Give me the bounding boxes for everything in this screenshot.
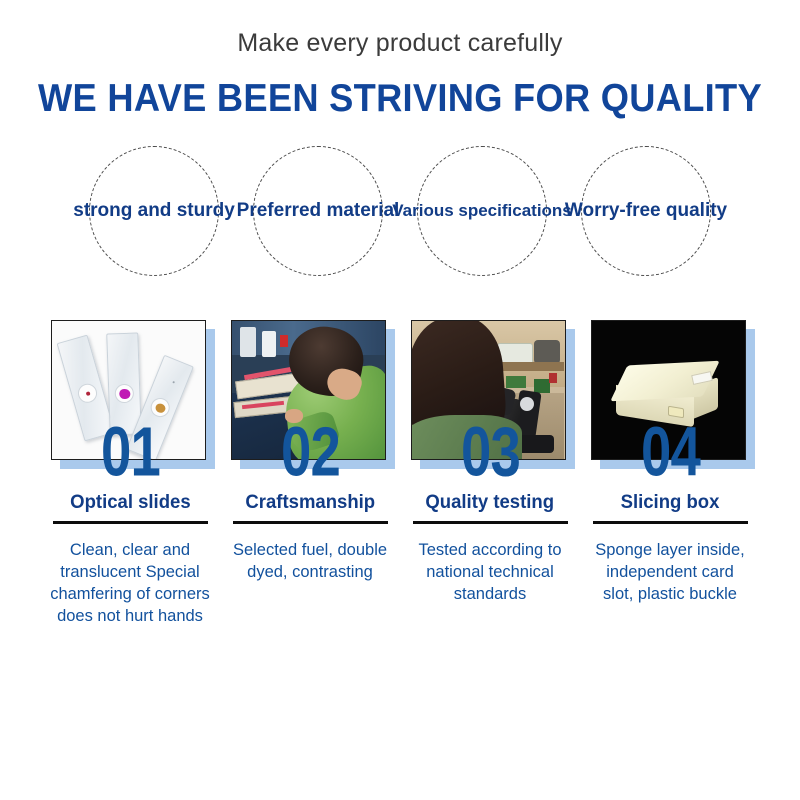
feature-badge-label: Various specifications bbox=[392, 201, 572, 221]
product-description: Clean, clear and translucent Special cha… bbox=[50, 540, 210, 628]
banner-headline: WE HAVE BEEN STRIVING FOR QUALITY bbox=[28, 79, 772, 118]
title-underline bbox=[53, 521, 208, 524]
specimen-mount bbox=[75, 382, 99, 406]
product-card-list: 01 Optical slides Clean, clear and trans… bbox=[0, 320, 800, 628]
promo-banner: Make every product carefully WE HAVE BEE… bbox=[0, 0, 800, 628]
product-number: 02 bbox=[281, 425, 340, 482]
product-title: Slicing box bbox=[621, 493, 720, 513]
title-underline bbox=[413, 521, 568, 524]
product-card-optical-slides: 01 Optical slides Clean, clear and trans… bbox=[46, 320, 214, 628]
title-underline bbox=[593, 521, 748, 524]
product-number: 01 bbox=[101, 425, 160, 482]
product-card-craftsmanship: 02 Craftsmanship Selected fuel, double d… bbox=[226, 320, 394, 628]
feature-badge-worry-free-quality: Worry-free quality bbox=[581, 146, 711, 276]
product-description: Tested according to national technical s… bbox=[410, 540, 570, 606]
product-title: Optical slides bbox=[70, 493, 190, 513]
product-title: Quality testing bbox=[426, 493, 555, 513]
feature-badge-preferred-material: Preferred material bbox=[253, 146, 383, 276]
product-description: Sponge layer inside, independent card sl… bbox=[590, 540, 750, 606]
feature-badge-list: strong and sturdy Preferred material Var… bbox=[0, 146, 800, 276]
product-card-slicing-box: 04 Slicing box Sponge layer inside, inde… bbox=[586, 320, 754, 628]
product-title: Craftsmanship bbox=[245, 493, 375, 513]
product-description: Selected fuel, double dyed, contrasting bbox=[230, 540, 390, 584]
banner-subtitle: Make every product carefully bbox=[0, 0, 800, 56]
specimen-mount bbox=[114, 384, 134, 404]
product-card-quality-testing: 03 Quality testing Tested according to n… bbox=[406, 320, 574, 628]
product-number: 04 bbox=[641, 425, 700, 482]
feature-badge-various-specifications: Various specifications bbox=[417, 146, 547, 276]
product-number: 03 bbox=[461, 425, 520, 482]
feature-badge-label: strong and sturdy bbox=[73, 200, 235, 222]
feature-badge-strong-and-sturdy: strong and sturdy bbox=[89, 146, 219, 276]
feature-badge-label: Worry-free quality bbox=[565, 200, 727, 222]
title-underline bbox=[233, 521, 388, 524]
feature-badge-label: Preferred material bbox=[237, 200, 400, 222]
